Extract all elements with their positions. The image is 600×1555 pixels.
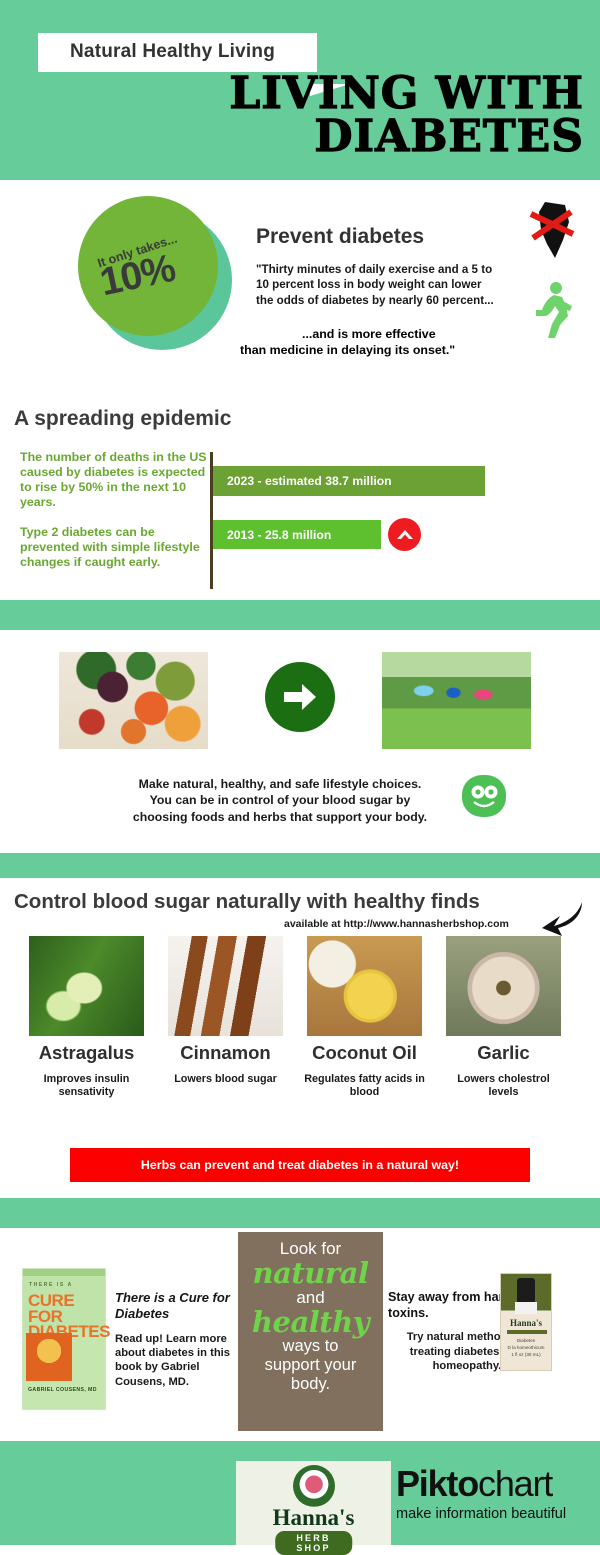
- infographic-page: Natural Healthy Living LIVING WITH DIABE…: [0, 0, 600, 1545]
- hannas-wordmark: Hanna's: [236, 1505, 391, 1531]
- bottle-label-1: Diabetes: [501, 1338, 551, 1345]
- bottle-cap: [517, 1278, 535, 1304]
- lifestyle-message: Make natural, healthy, and safe lifestyl…: [110, 776, 450, 825]
- epidemic-text-block: The number of deaths in the US caused by…: [20, 450, 210, 584]
- tagline-box: Natural Healthy Living: [38, 33, 317, 72]
- brown-script-natural: natural: [238, 1259, 383, 1287]
- piktochart-wordmark: Piktochart: [396, 1466, 592, 1502]
- prevent-heading: Prevent diabetes: [256, 225, 424, 249]
- herb-desc-0: Improves insulin sensativity: [24, 1073, 149, 1100]
- brown-script-healthy: healthy: [238, 1308, 383, 1336]
- book-cover-kicker: THERE IS A: [29, 1282, 73, 1288]
- brown-line-3: ways to: [238, 1337, 383, 1356]
- prevent-quote-2-indent: ...and is more effective: [240, 326, 512, 342]
- runner-icon: [528, 280, 576, 342]
- epidemic-heading: A spreading epidemic: [14, 407, 231, 431]
- garlic-bulb-photo: [446, 936, 561, 1036]
- curved-arrow-icon: [538, 900, 584, 940]
- divider-band-2: [0, 853, 600, 878]
- title-line-2: DIABETES: [229, 115, 584, 158]
- herb-card-0: Astragalus Improves insulin sensativity: [24, 936, 149, 1100]
- book-title: There is a Cure for Diabetes: [115, 1290, 235, 1321]
- bar-2023: 2023 - estimated 38.7 million: [213, 466, 485, 496]
- divider-band-3: [0, 1198, 600, 1228]
- tagline-text: Natural Healthy Living: [70, 41, 275, 62]
- cinnamon-sticks-photo: [168, 936, 283, 1036]
- herb-desc-1: Lowers blood sugar: [163, 1073, 288, 1086]
- coconut-oil-photo: [307, 936, 422, 1036]
- women-doing-yoga-photo: [382, 652, 531, 749]
- piktochart-logo: Piktochart make information beautiful: [396, 1466, 592, 1542]
- book-description: Read up! Learn more about diabetes in th…: [115, 1332, 237, 1389]
- homeopathy-bottle-photo: Hanna's Diabetes D la homeothicum 1 fl o…: [500, 1273, 552, 1371]
- bottle-brand: Hanna's: [501, 1318, 551, 1328]
- epidemic-paragraph-1: The number of deaths in the US caused by…: [20, 450, 210, 511]
- page-title: LIVING WITH DIABETES: [229, 72, 584, 158]
- no-smoking-icon: [525, 200, 581, 262]
- right-arrow-icon: [280, 681, 320, 713]
- divider-band-1: [0, 600, 600, 630]
- bottle-label-2: D la homeothicum: [501, 1345, 551, 1352]
- pikto-light-part: chart: [478, 1463, 552, 1504]
- herb-desc-3: Lowers cholestrol levels: [441, 1073, 566, 1100]
- tree-icon: [35, 1339, 63, 1373]
- herb-card-2: Coconut Oil Regulates fatty acids in blo…: [302, 936, 427, 1100]
- herb-card-3: Garlic Lowers cholestrol levels: [441, 936, 566, 1100]
- herbs-url-note[interactable]: available at http://www.hannasherbshop.c…: [284, 918, 509, 930]
- rose-seal-icon: [293, 1465, 335, 1507]
- percent-badge: It only takes... 10%: [78, 196, 238, 356]
- brown-quote-panel: Look for natural and healthy ways to sup…: [238, 1232, 383, 1431]
- up-arrow-badge: [388, 518, 421, 551]
- epidemic-paragraph-2: Type 2 diabetes can be prevented with si…: [20, 525, 210, 570]
- lifestyle-line-2: You can be in control of your blood suga…: [110, 792, 450, 808]
- herbs-heading: Control blood sugar naturally with healt…: [14, 890, 480, 914]
- badge-text-group: It only takes... 10%: [78, 196, 218, 336]
- lifestyle-line-3: choosing foods and herbs that support yo…: [110, 809, 450, 825]
- brown-line-5: body.: [238, 1375, 383, 1394]
- herbs-red-banner: Herbs can prevent and treat diabetes in …: [70, 1148, 530, 1182]
- prevent-quote-2: ...and is more effective than medicine i…: [240, 326, 512, 358]
- herb-name-3: Garlic: [441, 1042, 566, 1064]
- brown-line-4: support your: [238, 1356, 383, 1375]
- bottle-label-bar: [507, 1330, 547, 1334]
- bottle-label-3: 1 fl oz (30 mL): [501, 1352, 551, 1359]
- right-arrow-badge: [265, 662, 335, 732]
- title-line-1: LIVING WITH: [229, 72, 584, 115]
- astragalus-photo: [29, 936, 144, 1036]
- herb-name-0: Astragalus: [24, 1042, 149, 1064]
- herb-name-2: Coconut Oil: [302, 1042, 427, 1064]
- lifestyle-line-1: Make natural, healthy, and safe lifestyl…: [110, 776, 450, 792]
- herb-name-1: Cinnamon: [163, 1042, 288, 1064]
- prevent-quote-2-rest: than medicine in delaying its onset.": [240, 343, 455, 357]
- herb-card-1: Cinnamon Lowers blood sugar: [163, 936, 288, 1086]
- book-cover-image: THERE IS A CURE FOR DIABETES GABRIEL COU…: [22, 1268, 106, 1410]
- piktochart-tagline: make information beautiful: [396, 1506, 592, 1522]
- bottle-neck: [515, 1302, 537, 1314]
- up-arrow-icon: [395, 525, 415, 545]
- hannas-subtitle: HERB SHOP: [275, 1531, 353, 1555]
- prevent-quote-1: "Thirty minutes of daily exercise and a …: [256, 262, 501, 308]
- bottle-label-lines: Diabetes D la homeothicum 1 fl oz (30 mL…: [501, 1338, 551, 1359]
- pikto-bold-part: Pikto: [396, 1463, 478, 1504]
- book-cover-author: GABRIEL COUSENS, MD: [28, 1387, 97, 1393]
- smiley-face-icon: [462, 775, 506, 817]
- herb-desc-2: Regulates fatty acids in blood: [302, 1073, 427, 1100]
- fresh-produce-photo: [59, 652, 208, 749]
- hannas-herb-shop-logo: Hanna's HERB SHOP: [236, 1461, 391, 1545]
- book-cover-top-strip: [23, 1269, 105, 1276]
- bar-2013: 2013 - 25.8 million: [213, 520, 381, 549]
